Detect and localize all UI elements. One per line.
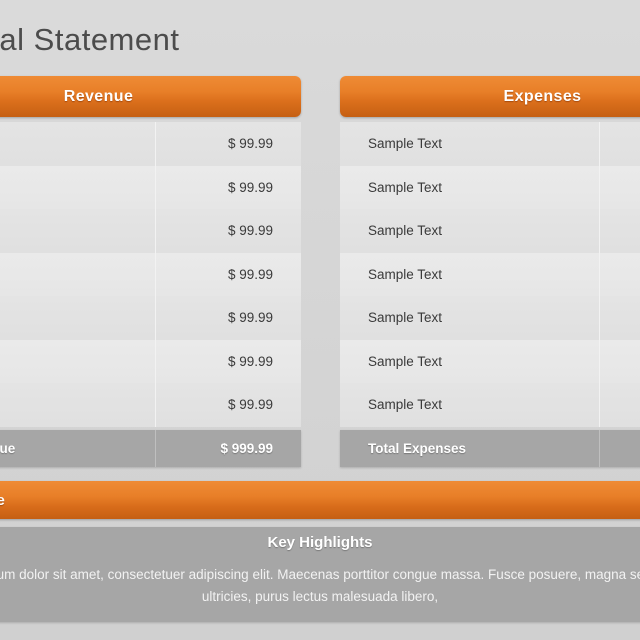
table-row[interactable]: Sample Text $ 99.99 (340, 209, 640, 253)
key-highlights-title: Key Highlights (0, 527, 640, 558)
table-row[interactable]: Sample Text $ 99.99 (0, 383, 301, 427)
revenue-total-label: Total Revenue (0, 441, 155, 456)
table-row[interactable]: Sample Text $ 99.99 (340, 340, 640, 384)
key-highlights-body: Lorem ipsum dolor sit amet, consectetuer… (0, 558, 640, 608)
table-row[interactable]: Sample Text $ 99.99 (0, 253, 301, 297)
row-label: Sample Text (0, 354, 155, 369)
row-amount: $ 99.99 (155, 383, 301, 427)
revenue-total-row: Total Revenue $ 999.99 (0, 430, 301, 467)
table-row[interactable]: Sample Text $ 99.99 (0, 166, 301, 210)
row-amount: $ 99.99 (599, 166, 640, 210)
key-highlights-panel: Key Highlights Lorem ipsum dolor sit ame… (0, 527, 640, 622)
row-label: Sample Text (0, 136, 155, 151)
expenses-total-amount: $ 999.99 (599, 430, 640, 467)
table-row[interactable]: Sample Text $ 99.99 (340, 253, 640, 297)
revenue-panel: Revenue Sample Text $ 99.99 Sample Text … (0, 76, 301, 467)
table-row[interactable]: Sample Text $ 99.99 (340, 383, 640, 427)
row-amount: $ 99.99 (599, 340, 640, 384)
expenses-header: Expenses (340, 76, 640, 117)
table-row[interactable]: Sample Text $ 99.99 (340, 296, 640, 340)
net-income-bar: Net Income $ 999.99 (0, 481, 640, 519)
table-row[interactable]: Sample Text $ 99.99 (0, 122, 301, 166)
revenue-total-amount: $ 999.99 (155, 430, 301, 467)
expenses-table: Sample Text $ 99.99 Sample Text $ 99.99 … (340, 122, 640, 467)
revenue-header: Revenue (0, 76, 301, 117)
row-amount: $ 99.99 (599, 122, 640, 166)
row-amount: $ 99.99 (599, 253, 640, 297)
row-label: Sample Text (0, 223, 155, 238)
row-label: Sample Text (340, 223, 599, 238)
slide-canvas: Financial Statement Revenue Sample Text … (0, 0, 640, 640)
page-title: Financial Statement (0, 22, 316, 58)
table-row[interactable]: Sample Text $ 99.99 (0, 340, 301, 384)
table-row[interactable]: Sample Text $ 99.99 (0, 209, 301, 253)
expenses-total-label: Total Expenses (340, 441, 599, 456)
revenue-table: Sample Text $ 99.99 Sample Text $ 99.99 … (0, 122, 301, 467)
row-label: Sample Text (340, 267, 599, 282)
row-label: Sample Text (340, 310, 599, 325)
table-row[interactable]: Sample Text $ 99.99 (340, 166, 640, 210)
table-row[interactable]: Sample Text $ 99.99 (0, 296, 301, 340)
row-label: Sample Text (0, 397, 155, 412)
row-amount: $ 99.99 (155, 340, 301, 384)
row-label: Sample Text (340, 354, 599, 369)
row-label: Sample Text (340, 180, 599, 195)
row-amount: $ 99.99 (599, 383, 640, 427)
table-row[interactable]: Sample Text $ 99.99 (340, 122, 640, 166)
row-amount: $ 99.99 (155, 166, 301, 210)
net-income-label: Net Income (0, 492, 5, 509)
expenses-total-row: Total Expenses $ 999.99 (340, 430, 640, 467)
row-amount: $ 99.99 (599, 296, 640, 340)
row-label: Sample Text (0, 267, 155, 282)
row-label: Sample Text (0, 310, 155, 325)
row-amount: $ 99.99 (599, 209, 640, 253)
row-label: Sample Text (340, 397, 599, 412)
row-amount: $ 99.99 (155, 122, 301, 166)
row-amount: $ 99.99 (155, 209, 301, 253)
row-label: Sample Text (0, 180, 155, 195)
row-amount: $ 99.99 (155, 296, 301, 340)
row-amount: $ 99.99 (155, 253, 301, 297)
row-label: Sample Text (340, 136, 599, 151)
expenses-panel: Expenses Sample Text $ 99.99 Sample Text… (340, 76, 640, 467)
